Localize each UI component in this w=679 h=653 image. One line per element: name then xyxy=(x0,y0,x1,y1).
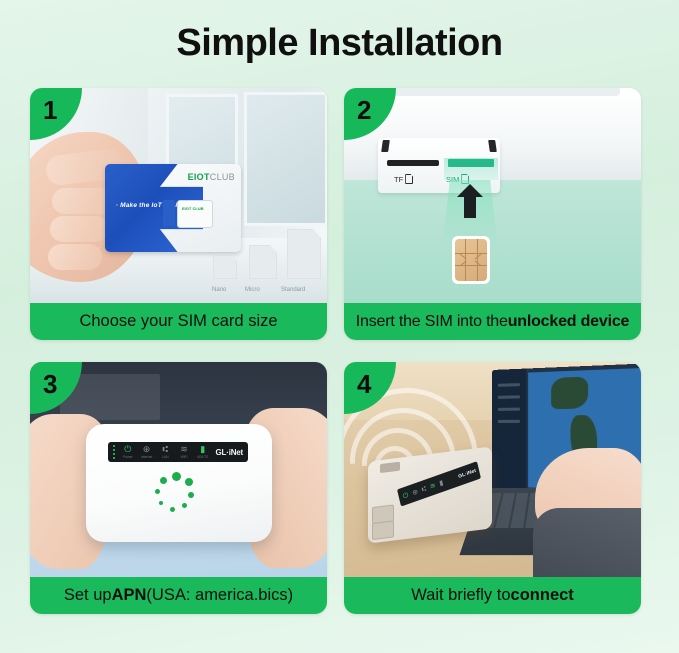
finger-ring xyxy=(50,216,108,242)
router-brand-label: GL·iNet xyxy=(216,448,244,457)
sidebar-row xyxy=(498,395,520,399)
slot-notch-right xyxy=(488,140,497,152)
device-lip xyxy=(390,88,620,96)
sim-size-comparison: Nano Micro Standard xyxy=(211,227,321,295)
size-label-nano: Nano xyxy=(212,287,226,293)
laptop-sidebar xyxy=(492,369,526,492)
caption-1-text: Choose your SIM card size xyxy=(79,312,277,331)
router-brand-label-desk: GL·iNet xyxy=(458,468,477,480)
led-signal: ▮ 4G/LTE xyxy=(197,445,209,459)
led-label-power: Power xyxy=(123,455,133,459)
brand-eiot: EIOT xyxy=(188,172,210,182)
tf-card-icon xyxy=(405,174,413,184)
sidebar-row xyxy=(498,408,520,411)
finger-pinky xyxy=(48,244,102,270)
step-caption-1: Choose your SIM card size xyxy=(30,303,327,340)
size-label-micro: Micro xyxy=(245,287,260,293)
step-4-illustration: ⏻ ⊕ ⑆ ≋ ▮ GL·iNet xyxy=(344,362,641,577)
steps-grid: · Make the IoT easier · EIOTCLUB EIOT CL… xyxy=(30,88,655,638)
signal-bars-icon: ▮ xyxy=(438,478,444,488)
lan-icon: ⑆ xyxy=(163,445,168,454)
step-card-3[interactable]: ⏻ Power ⊕ Internet ⑆ LAN ≋ xyxy=(30,362,327,614)
punch-slot-edge xyxy=(163,200,175,226)
step-card-2[interactable]: TF SIM xyxy=(344,88,641,340)
step-number-3: 3 xyxy=(43,369,57,400)
router-led-strip: ⏻ Power ⊕ Internet ⑆ LAN ≋ xyxy=(108,442,248,462)
step-number-2: 2 xyxy=(357,95,371,126)
router-device-desk: ⏻ ⊕ ⑆ ≋ ▮ GL·iNet xyxy=(368,446,492,543)
step-caption-4: Wait briefly to connect xyxy=(344,577,641,614)
step-2-illustration: TF SIM xyxy=(344,88,641,303)
infographic-page: Simple Installation · Make the IoT easie… xyxy=(0,0,679,653)
caption-3-prefix: Set up xyxy=(64,586,112,605)
caption-4-bold: connect xyxy=(511,586,574,605)
step-1-illustration: · Make the IoT easier · EIOTCLUB EIOT CL… xyxy=(30,88,327,303)
tf-slot-label: TF xyxy=(394,175,403,184)
step-card-1[interactable]: · Make the IoT easier · EIOTCLUB EIOT CL… xyxy=(30,88,327,340)
power-icon: ⏻ xyxy=(124,445,131,454)
tf-card-slot xyxy=(387,160,439,166)
step-caption-3: Set up APN (USA: america.bics) xyxy=(30,577,327,614)
signal-bars-icon: ▮ xyxy=(200,445,205,454)
wifi-icon: ≋ xyxy=(180,445,188,454)
sidebar-row xyxy=(498,420,520,423)
led-internet: ⊕ Internet xyxy=(141,445,153,459)
step-number-4: 4 xyxy=(357,369,371,400)
lan-icon: ⑆ xyxy=(421,484,427,494)
brand-club: CLUB xyxy=(210,172,235,182)
slot-notch-left xyxy=(381,140,390,152)
sim-punch-out: EIOT CLUB xyxy=(177,200,213,228)
caption-2-prefix: Insert the SIM into the xyxy=(356,313,508,331)
led-label-internet: Internet xyxy=(141,455,153,459)
globe-icon: ⊕ xyxy=(143,445,151,454)
page-title: Simple Installation xyxy=(0,22,679,65)
size-label-standard: Standard xyxy=(281,287,305,293)
sim-card-slot xyxy=(448,159,494,167)
ethernet-port-2 xyxy=(372,520,394,540)
led-wifi: ≋ WiFi xyxy=(178,445,190,459)
step-card-4[interactable]: ⏻ ⊕ ⑆ ≋ ▮ GL·iNet 4 Wait briefly to conn… xyxy=(344,362,641,614)
sleeve xyxy=(533,508,641,577)
tf-slot-label-group: TF xyxy=(394,174,413,184)
led-label-lan: LAN xyxy=(162,455,169,459)
window-pane-right xyxy=(244,92,327,226)
globe-icon: ⊕ xyxy=(411,487,419,498)
signal-dots-icon xyxy=(113,445,115,459)
sidebar-row xyxy=(498,383,520,387)
router-led-strip-desk: ⏻ ⊕ ⑆ ≋ ▮ GL·iNet xyxy=(397,461,481,506)
led-lan: ⑆ LAN xyxy=(159,445,171,459)
caption-4-prefix: Wait briefly to xyxy=(411,586,510,605)
size-standard-shape xyxy=(287,229,321,279)
sim-chip xyxy=(452,236,490,284)
arrow-up-icon xyxy=(464,196,476,218)
led-label-signal: 4G/LTE xyxy=(197,455,208,459)
router-device: ⏻ Power ⊕ Internet ⑆ LAN ≋ xyxy=(86,424,272,542)
caption-2-bold: unlocked device xyxy=(508,313,630,331)
usb-port xyxy=(380,462,400,473)
step-caption-2: Insert the SIM into the unlocked device xyxy=(344,303,641,340)
power-icon: ⏻ xyxy=(402,490,409,500)
caption-3-bold: APN xyxy=(112,586,147,605)
led-power: ⏻ Power xyxy=(122,445,134,459)
chip-line xyxy=(477,239,478,281)
size-micro-shape xyxy=(249,245,277,279)
size-nano-shape xyxy=(213,255,237,279)
sim-chip-contacts xyxy=(455,239,487,281)
caption-3-suffix: (USA: america.bics) xyxy=(146,586,293,605)
step-3-illustration: ⏻ Power ⊕ Internet ⑆ LAN ≋ xyxy=(30,362,327,577)
loading-spinner-icon xyxy=(154,472,198,516)
finger-middle xyxy=(52,188,112,214)
map-continent xyxy=(551,377,588,410)
wifi-icon: ≋ xyxy=(429,481,437,492)
led-label-wifi: WiFi xyxy=(181,455,188,459)
card-brand-logo: EIOTCLUB xyxy=(188,172,235,182)
step-number-1: 1 xyxy=(43,95,57,126)
punch-logo: EIOT CLUB xyxy=(182,206,204,211)
